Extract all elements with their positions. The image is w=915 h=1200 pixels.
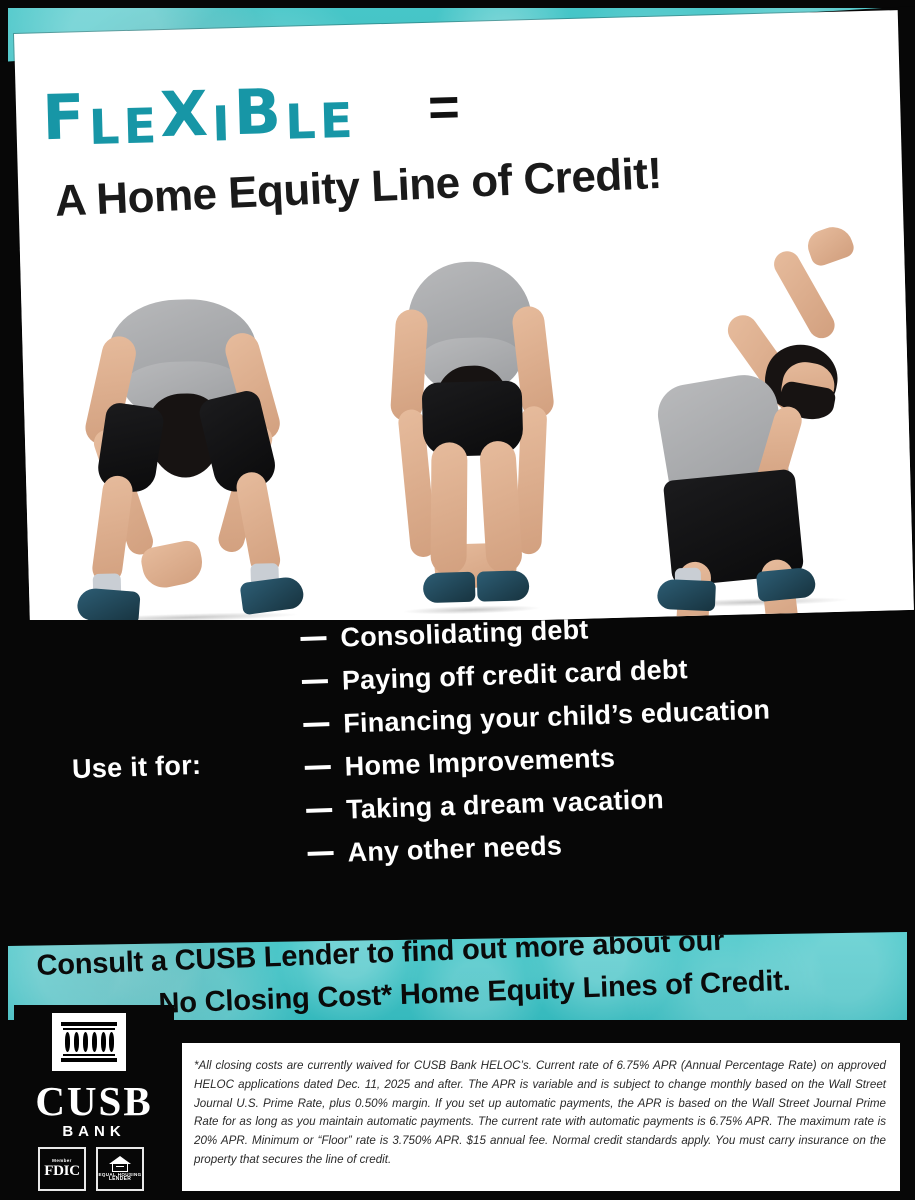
logo-name: CUSB <box>14 1077 174 1125</box>
list-item-label: Any other needs <box>347 830 562 868</box>
equals-sign: = <box>427 76 460 139</box>
list-item: Taking a dream vacation <box>306 776 915 827</box>
heloc-advertisement-poster: FLEXIBLE = A Home Equity Line of Credit! <box>0 0 915 1200</box>
disclaimer-box: *All closing costs are currently waived … <box>182 1043 900 1191</box>
disclaimer-text: *All closing costs are currently waived … <box>194 1057 886 1170</box>
dash-icon <box>308 851 334 856</box>
list-item: Any other needs <box>307 819 915 870</box>
list-item-label: Consolidating debt <box>340 614 589 653</box>
stretching-men-photo <box>20 225 914 634</box>
figure-1-shoe-left <box>76 587 140 624</box>
fdic-badge-icon: Member FDIC <box>38 1147 86 1191</box>
list-item: Paying off credit card debt <box>301 647 912 698</box>
fdic-label: FDIC <box>44 1164 79 1179</box>
figure-1-shoe-right <box>239 575 305 615</box>
equal-housing-lender-badge-icon: EQUAL HOUSING LENDER <box>96 1147 144 1191</box>
logo-subtitle: BANK <box>14 1123 174 1140</box>
figure-3-hand <box>804 222 857 269</box>
house-icon <box>109 1156 131 1172</box>
list-item-label: Taking a dream vacation <box>346 784 665 826</box>
hero-white-panel: FLEXIBLE = A Home Equity Line of Credit! <box>14 10 914 634</box>
dash-icon <box>303 722 329 727</box>
figure-2-shoe-right <box>477 570 530 601</box>
uses-list: Consolidating debt Paying off credit car… <box>300 604 915 882</box>
dash-icon <box>305 765 331 770</box>
cusb-logo-block: CUSB BANK Member FDIC EQUAL HOUSING LEND… <box>14 1005 174 1191</box>
figure-2-forward-fold <box>362 253 582 621</box>
ehl-label: LENDER <box>109 1177 131 1182</box>
list-item-label: Paying off credit card debt <box>341 654 688 696</box>
dash-icon <box>302 679 328 684</box>
cusb-pillar-icon <box>52 1013 126 1071</box>
figure-2-shoe-left <box>423 572 476 603</box>
list-item-label: Home Improvements <box>344 743 615 783</box>
regulatory-badges: Member FDIC EQUAL HOUSING LENDER <box>38 1147 144 1191</box>
subheadline: A Home Equity Line of Credit! <box>54 149 663 227</box>
uses-section: Use it for: Consolidating debt Paying of… <box>0 620 915 940</box>
list-item: Financing your child’s education <box>303 690 914 741</box>
list-item: Home Improvements <box>304 733 915 784</box>
headline-flexible: FLEXIBLE <box>41 73 357 154</box>
use-it-for-label: Use it for: <box>72 750 202 785</box>
figure-1-forward-bend <box>61 272 320 629</box>
figure-3-side-bend <box>620 227 890 614</box>
list-item-label: Financing your child’s education <box>343 694 771 739</box>
dash-icon <box>306 808 332 813</box>
dash-icon <box>300 636 326 641</box>
figure-3-shoe-left <box>657 579 716 611</box>
